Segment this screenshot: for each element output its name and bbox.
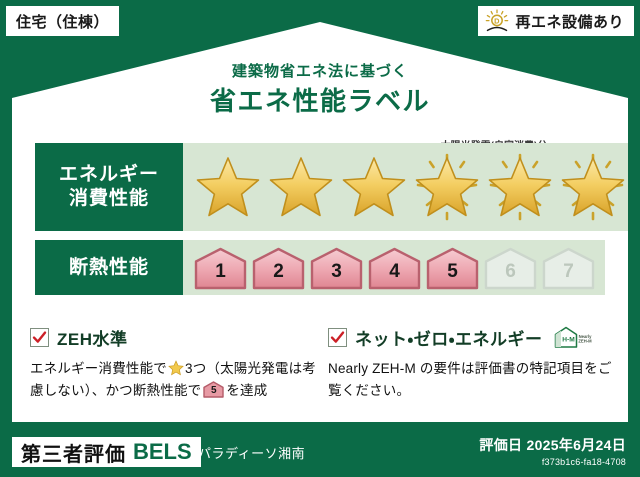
star-rating xyxy=(183,153,628,221)
energy-label-line1: エネルギー xyxy=(59,163,159,187)
energy-performance-label: 住宅（住棟） D 再エネ設備あり 建築物省エネ法に基づく 省エネ性能ラベル パラ… xyxy=(0,0,640,477)
insulation-level-scale: 1 2 3 xyxy=(183,246,596,290)
building-type-tag-label: 住宅（住棟） xyxy=(16,11,109,32)
label-subtitle: 建築物省エネ法に基づく xyxy=(0,60,640,81)
net-zero-energy-heading: ネット・ゼロ・エネルギー H-M Nearly ZEH-M xyxy=(328,325,616,349)
renewable-equipment-label: 再エネ設備あり xyxy=(515,11,624,32)
bels-certification-badge: 第三者評価 BELS xyxy=(12,437,201,467)
insulation-level-badge: 3 xyxy=(309,246,364,290)
zeh-standard-block: ZEH水準 エネルギー消費性能で3つ（太陽光発電は考慮しない）、かつ断熱性能で5… xyxy=(30,325,318,402)
insulation-level-badge: 2 xyxy=(251,246,306,290)
renewable-equipment-tag: D 再エネ設備あり xyxy=(478,6,634,36)
net-zero-energy-title: ネット・ゼロ・エネルギー xyxy=(355,325,543,350)
zeh-desc-part3: を達成 xyxy=(226,383,267,398)
star-solar xyxy=(485,153,555,221)
check-icon xyxy=(32,330,47,345)
energy-performance-row: エネルギー 消費性能 xyxy=(35,143,605,231)
insulation-level-badge: 4 xyxy=(367,246,422,290)
energy-performance-label-block: エネルギー 消費性能 xyxy=(35,143,183,231)
label-main-title: 省エネ性能ラベル xyxy=(0,81,640,118)
svg-text:H-M: H-M xyxy=(562,336,575,343)
energy-performance-value-block xyxy=(183,143,628,231)
insulation-level-value: 6 xyxy=(505,262,516,290)
svg-text:D: D xyxy=(495,17,501,26)
insulation-performance-label-block: 断熱性能 xyxy=(35,240,183,295)
net-zero-energy-description: Nearly ZEH-M の要件は評価書の特記項目をご覧ください。 xyxy=(328,358,616,402)
insulation-level-badge: 1 xyxy=(193,246,248,290)
zeh-standard-checkbox xyxy=(30,328,49,347)
insulation-level-value: 7 xyxy=(563,262,574,290)
bels-logo-text: BELS xyxy=(133,439,192,465)
insulation-level-value: 3 xyxy=(331,262,342,290)
insulation-level-value: 1 xyxy=(215,262,226,290)
energy-label-line2: 消費性能 xyxy=(69,187,149,211)
insulation-label: 断熱性能 xyxy=(69,256,149,280)
insulation-level-badge: 7 xyxy=(541,246,596,290)
star-solar xyxy=(558,153,628,221)
net-zero-energy-block: ネット・ゼロ・エネルギー H-M Nearly ZEH-M Nearly ZEH… xyxy=(328,325,616,402)
evaluation-id: f373b1c6-fa18-4708 xyxy=(542,457,626,467)
inline-insulation-badge-icon: 5 xyxy=(203,381,224,398)
zeh-desc-part1: エネルギー消費性能で xyxy=(30,361,167,376)
zeh-standard-title: ZEH水準 xyxy=(57,325,128,350)
insulation-level-badge: 5 xyxy=(425,246,480,290)
inline-star-icon xyxy=(168,360,184,376)
zeh-standard-heading: ZEH水準 xyxy=(30,325,318,349)
insulation-level-value: 2 xyxy=(273,262,284,290)
star-base xyxy=(266,153,336,221)
star-base xyxy=(339,153,409,221)
evaluation-info: 評価日 2025年6月24日 f373b1c6-fa18-4708 xyxy=(479,435,626,467)
evaluation-date: 評価日 2025年6月24日 xyxy=(479,435,626,455)
sun-icon: D xyxy=(484,9,510,33)
insulation-level-badge: 6 xyxy=(483,246,538,290)
star-base xyxy=(193,153,263,221)
zeh-standard-description: エネルギー消費性能で3つ（太陽光発電は考慮しない）、かつ断熱性能で5を達成 xyxy=(30,358,318,402)
logo-sub-zehm: ZEH-M xyxy=(578,338,592,343)
net-zero-energy-checkbox xyxy=(328,328,347,347)
insulation-level-value: 5 xyxy=(447,262,458,290)
building-type-tag: 住宅（住棟） xyxy=(6,6,119,36)
inline-badge-value: 5 xyxy=(203,381,224,398)
building-name: パラディーソ湘南 xyxy=(198,437,305,467)
insulation-performance-value-block: 1 2 3 xyxy=(183,240,605,295)
third-party-eval-label: 第三者評価 xyxy=(21,438,126,467)
star-solar xyxy=(412,153,482,221)
insulation-level-value: 4 xyxy=(389,262,400,290)
nearly-zeh-m-logo-icon: H-M Nearly ZEH-M xyxy=(553,325,593,350)
check-icon xyxy=(330,330,345,345)
insulation-performance-row: 断熱性能 1 xyxy=(35,240,605,295)
